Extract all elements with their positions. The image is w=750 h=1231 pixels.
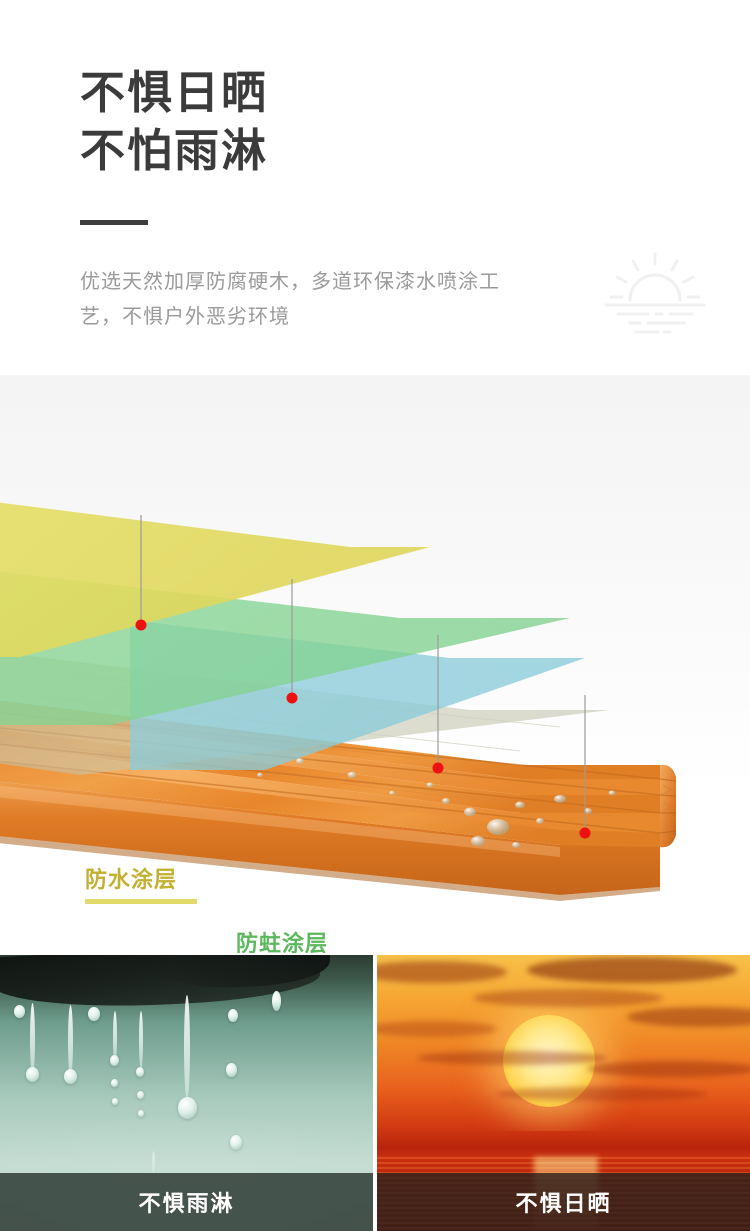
caption-sunset-text: 不惧日晒 xyxy=(515,1186,611,1218)
label-anti-termite-coating: 防蛀涂层 xyxy=(236,926,348,953)
caption-bar-rain: 不惧雨淋 xyxy=(0,1173,373,1231)
photo-sunset: 不惧日晒 xyxy=(377,955,750,1231)
label-waterproof-coating: 防水涂层 xyxy=(85,862,197,904)
layer-diagram-section: 防水涂层 防蛀涂层 防腐涂层 防腐木坐板 xyxy=(0,375,750,953)
label-waterproof-text: 防水涂层 xyxy=(85,862,197,894)
sky-layer xyxy=(377,955,750,1131)
page-title: 不惧日晒 不怕雨淋 xyxy=(80,64,268,179)
sunrise-icon xyxy=(600,248,710,340)
title-line-2: 不怕雨淋 xyxy=(80,122,268,180)
caption-rain-text: 不惧雨淋 xyxy=(138,1186,234,1218)
header-subtitle: 优选天然加厚防腐硬木，多道环保漆水喷涂工艺，不惧户外恶劣环境 xyxy=(80,265,510,335)
caption-bar-sunset: 不惧日晒 xyxy=(377,1173,750,1231)
label-waterproof-underline xyxy=(85,899,197,904)
photo-rain: 不惧雨淋 xyxy=(0,955,373,1231)
label-anti-termite-text: 防蛀涂层 xyxy=(236,926,348,953)
title-line-1: 不惧日晒 xyxy=(80,64,268,122)
product-feature-page: 不惧日晒 不怕雨淋 优选天然加厚防腐硬木，多道环保漆水喷涂工艺，不惧户外恶劣环境 xyxy=(0,0,750,1231)
photo-strip: 不惧雨淋 不惧日晒 xyxy=(0,955,750,1231)
title-divider xyxy=(80,220,148,225)
header-section: 不惧日晒 不怕雨淋 优选天然加厚防腐硬木，多道环保漆水喷涂工艺，不惧户外恶劣环境 xyxy=(0,0,750,375)
